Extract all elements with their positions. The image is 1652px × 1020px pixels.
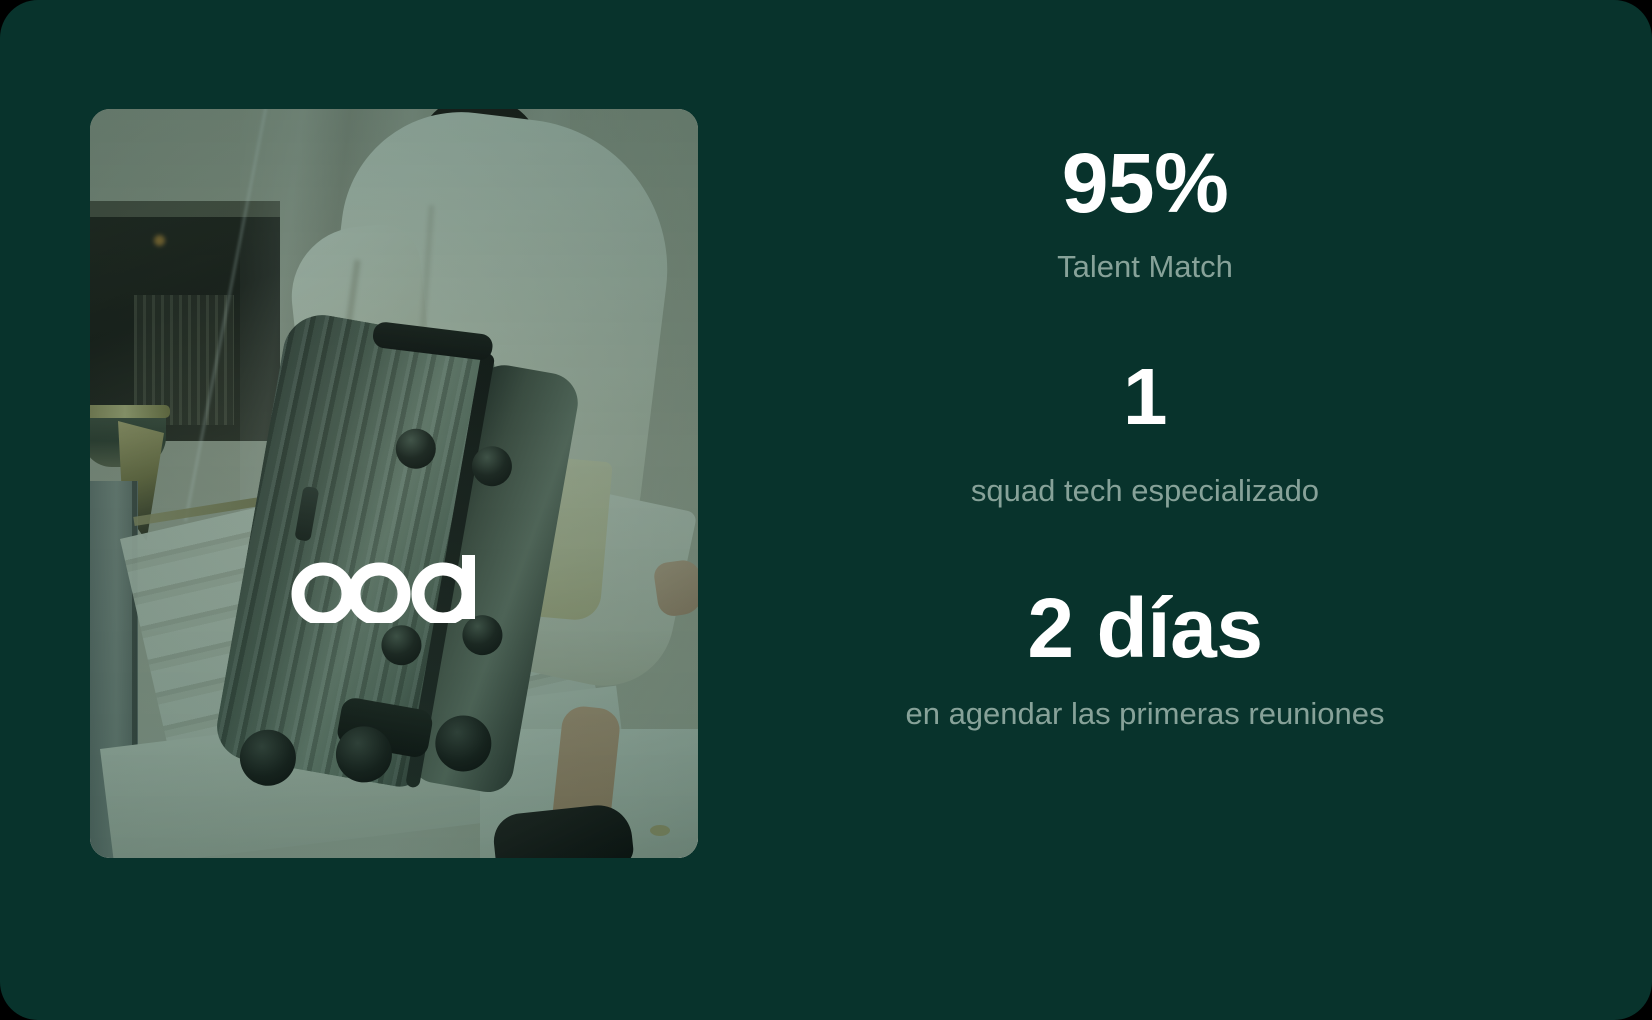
stat-label: Talent Match [845,243,1445,291]
stat-value: 2 días [845,585,1445,672]
stat-value: 95% [845,140,1445,227]
hero-photo [90,109,698,858]
stat-label: squad tech especializado [845,467,1445,515]
stat-talent-match: 95% Talent Match [845,140,1445,291]
stat-squad-tech: 1 squad tech especializado [845,355,1445,514]
photo-panel [90,109,698,858]
stats-card: 95% Talent Match 1 squad tech especializ… [0,0,1652,1020]
stat-value: 1 [845,355,1445,438]
stat-label: en agendar las primeras reuniones [845,690,1445,738]
photo-vignette [90,109,698,858]
stat-time-to-meeting: 2 días en agendar las primeras reuniones [845,585,1445,738]
stats-list: 95% Talent Match 1 squad tech especializ… [845,140,1445,738]
